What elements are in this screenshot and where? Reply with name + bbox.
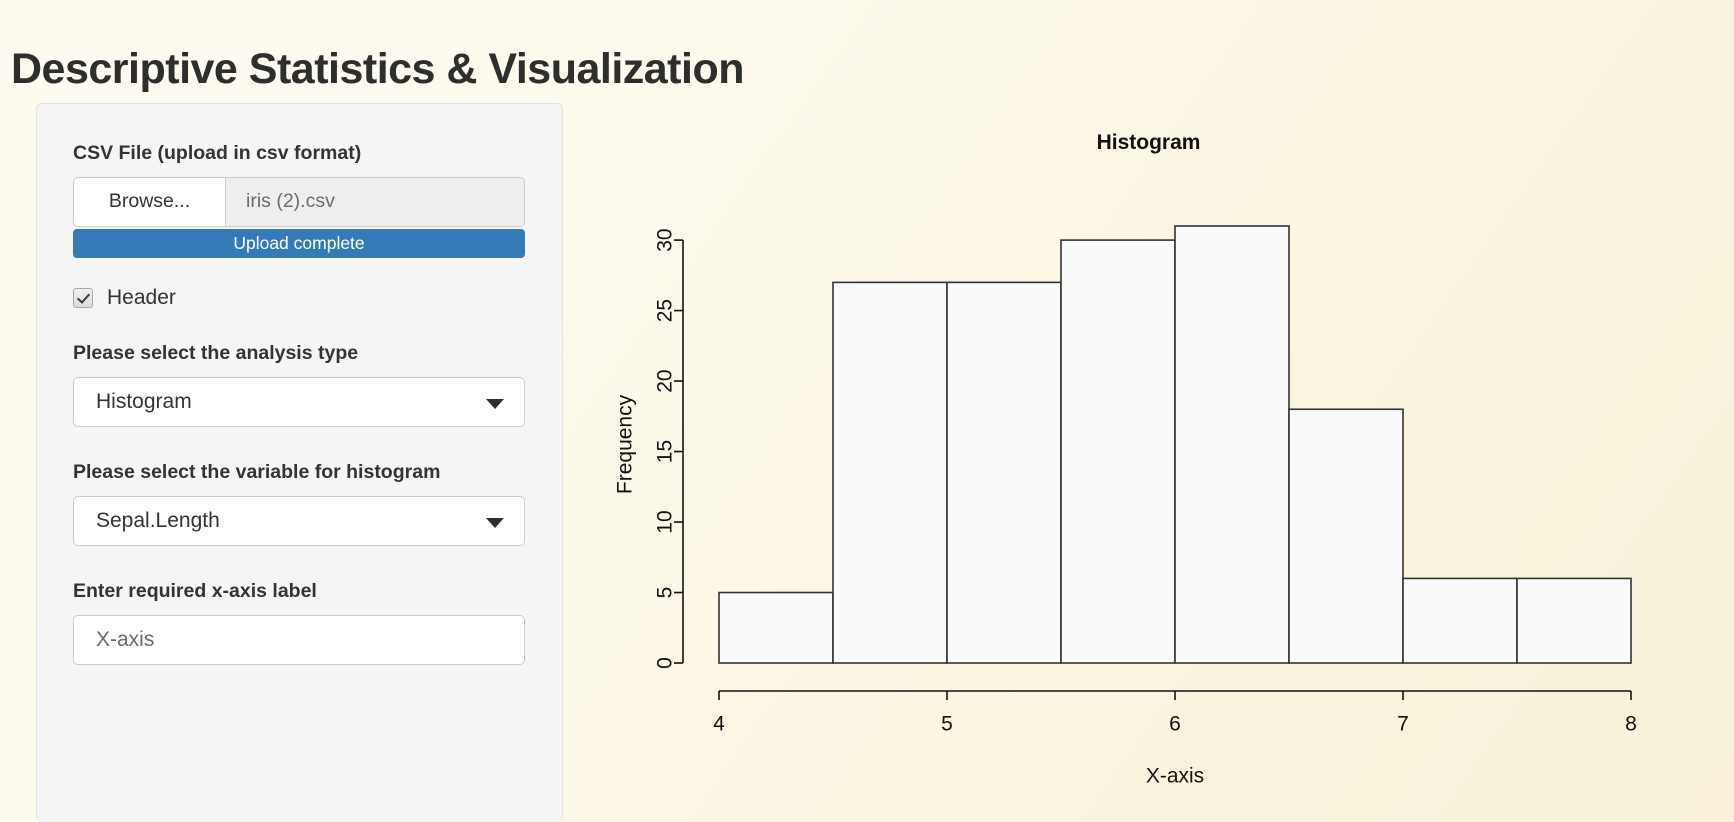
- variable-select-label: Please select the variable for histogram: [73, 459, 526, 486]
- checkbox-checked-icon[interactable]: [73, 288, 93, 308]
- spacer: [73, 314, 526, 340]
- y-axis-tick-label: 5: [654, 587, 677, 599]
- spacer: [73, 546, 526, 578]
- y-axis-tick-label: 20: [654, 369, 677, 392]
- xaxis-label-value: X-axis: [96, 628, 154, 652]
- histogram-bar: [1289, 409, 1403, 663]
- histogram-bar: [1517, 578, 1631, 663]
- file-name-display: iris (2).csv: [226, 178, 524, 226]
- x-axis-tick-label: 6: [1169, 713, 1181, 736]
- histogram-bar: [947, 282, 1061, 663]
- histogram-chart: 051015202530Frequency45678X-axis: [563, 103, 1734, 822]
- variable-select[interactable]: Sepal.Length: [73, 496, 525, 546]
- y-axis-tick-label: 25: [654, 299, 677, 322]
- browse-button[interactable]: Browse...: [74, 178, 226, 226]
- header-checkbox-row[interactable]: Header: [73, 286, 526, 310]
- sidebar-panel: CSV File (upload in csv format) Browse..…: [36, 103, 563, 822]
- upload-progress-bar: Upload complete: [73, 229, 525, 258]
- xaxis-label-label: Enter required x-axis label: [73, 578, 526, 605]
- x-axis-title: X-axis: [1146, 765, 1204, 788]
- y-axis-title: Frequency: [614, 394, 637, 494]
- histogram-bar: [719, 593, 833, 663]
- chevron-down-icon: [486, 518, 504, 528]
- chevron-down-icon: [486, 399, 504, 409]
- csv-file-label: CSV File (upload in csv format): [73, 140, 526, 167]
- histogram-bar: [1061, 240, 1175, 663]
- page-title: Descriptive Statistics & Visualization: [11, 45, 744, 94]
- y-axis-tick-label: 15: [654, 440, 677, 463]
- xaxis-label-input[interactable]: X-axis: [73, 615, 525, 665]
- y-axis-tick-label: 30: [654, 228, 677, 251]
- histogram-bar: [1175, 226, 1289, 663]
- variable-select-value: Sepal.Length: [96, 509, 220, 533]
- y-axis-tick-label: 0: [654, 657, 677, 669]
- x-axis-tick-label: 5: [941, 713, 953, 736]
- analysis-type-select[interactable]: Histogram: [73, 377, 525, 427]
- x-axis-tick-label: 8: [1625, 713, 1637, 736]
- histogram-bar: [1403, 578, 1517, 663]
- spacer: [73, 427, 526, 459]
- file-input-group[interactable]: Browse... iris (2).csv: [73, 177, 525, 227]
- x-axis-tick-label: 4: [713, 713, 725, 736]
- x-axis-tick-label: 7: [1397, 713, 1409, 736]
- histogram-bar: [833, 282, 947, 663]
- plot-area: Histogram 051015202530Frequency45678X-ax…: [563, 103, 1734, 822]
- app-root: Descriptive Statistics & Visualization C…: [0, 0, 1734, 822]
- analysis-type-value: Histogram: [96, 390, 192, 414]
- header-checkbox-label: Header: [107, 286, 176, 310]
- analysis-type-label: Please select the analysis type: [73, 340, 526, 367]
- y-axis-tick-label: 10: [654, 510, 677, 533]
